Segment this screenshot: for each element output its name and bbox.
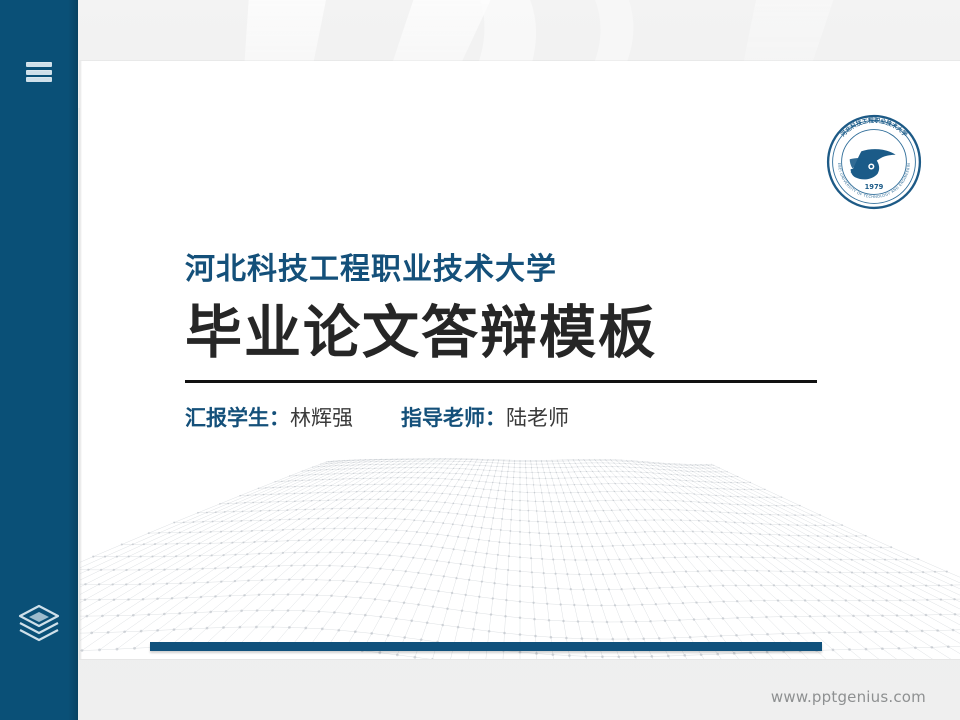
hamburger-bar	[26, 62, 52, 67]
student-label: 汇报学生：	[185, 405, 290, 432]
advisor-label: 指导老师：	[401, 405, 506, 432]
title-divider-rule	[185, 380, 817, 383]
advisor-name: 陆老师	[506, 405, 569, 432]
title-text-block: 河北科技工程职业技术大学 毕业论文答辩模板 汇报学生： 林辉强 指导老师： 陆老…	[185, 251, 825, 432]
accent-bottom-bar	[150, 642, 822, 651]
dotted-mesh-wave-decoration	[80, 444, 960, 659]
left-navy-rail	[0, 0, 78, 720]
hamburger-bar	[26, 70, 52, 75]
student-name: 林辉强	[290, 405, 353, 432]
school-name: 河北科技工程职业技术大学	[185, 251, 825, 289]
university-logo-seal: 河北科技工程职业技术大学 HEBEI UNIVERSITY OF TECHNOL…	[820, 108, 928, 216]
hamburger-bar	[26, 77, 52, 82]
slide-content-card: 河北科技工程职业技术大学 HEBEI UNIVERSITY OF TECHNOL…	[80, 61, 960, 659]
logo-year: 1979	[865, 183, 884, 191]
page-title: 毕业论文答辩模板	[185, 301, 825, 367]
hamburger-menu-icon[interactable]	[0, 55, 78, 89]
layers-stack-icon[interactable]	[0, 598, 78, 646]
site-watermark: www.pptgenius.com	[771, 688, 926, 706]
byline-row: 汇报学生： 林辉强 指导老师： 陆老师	[185, 405, 825, 432]
